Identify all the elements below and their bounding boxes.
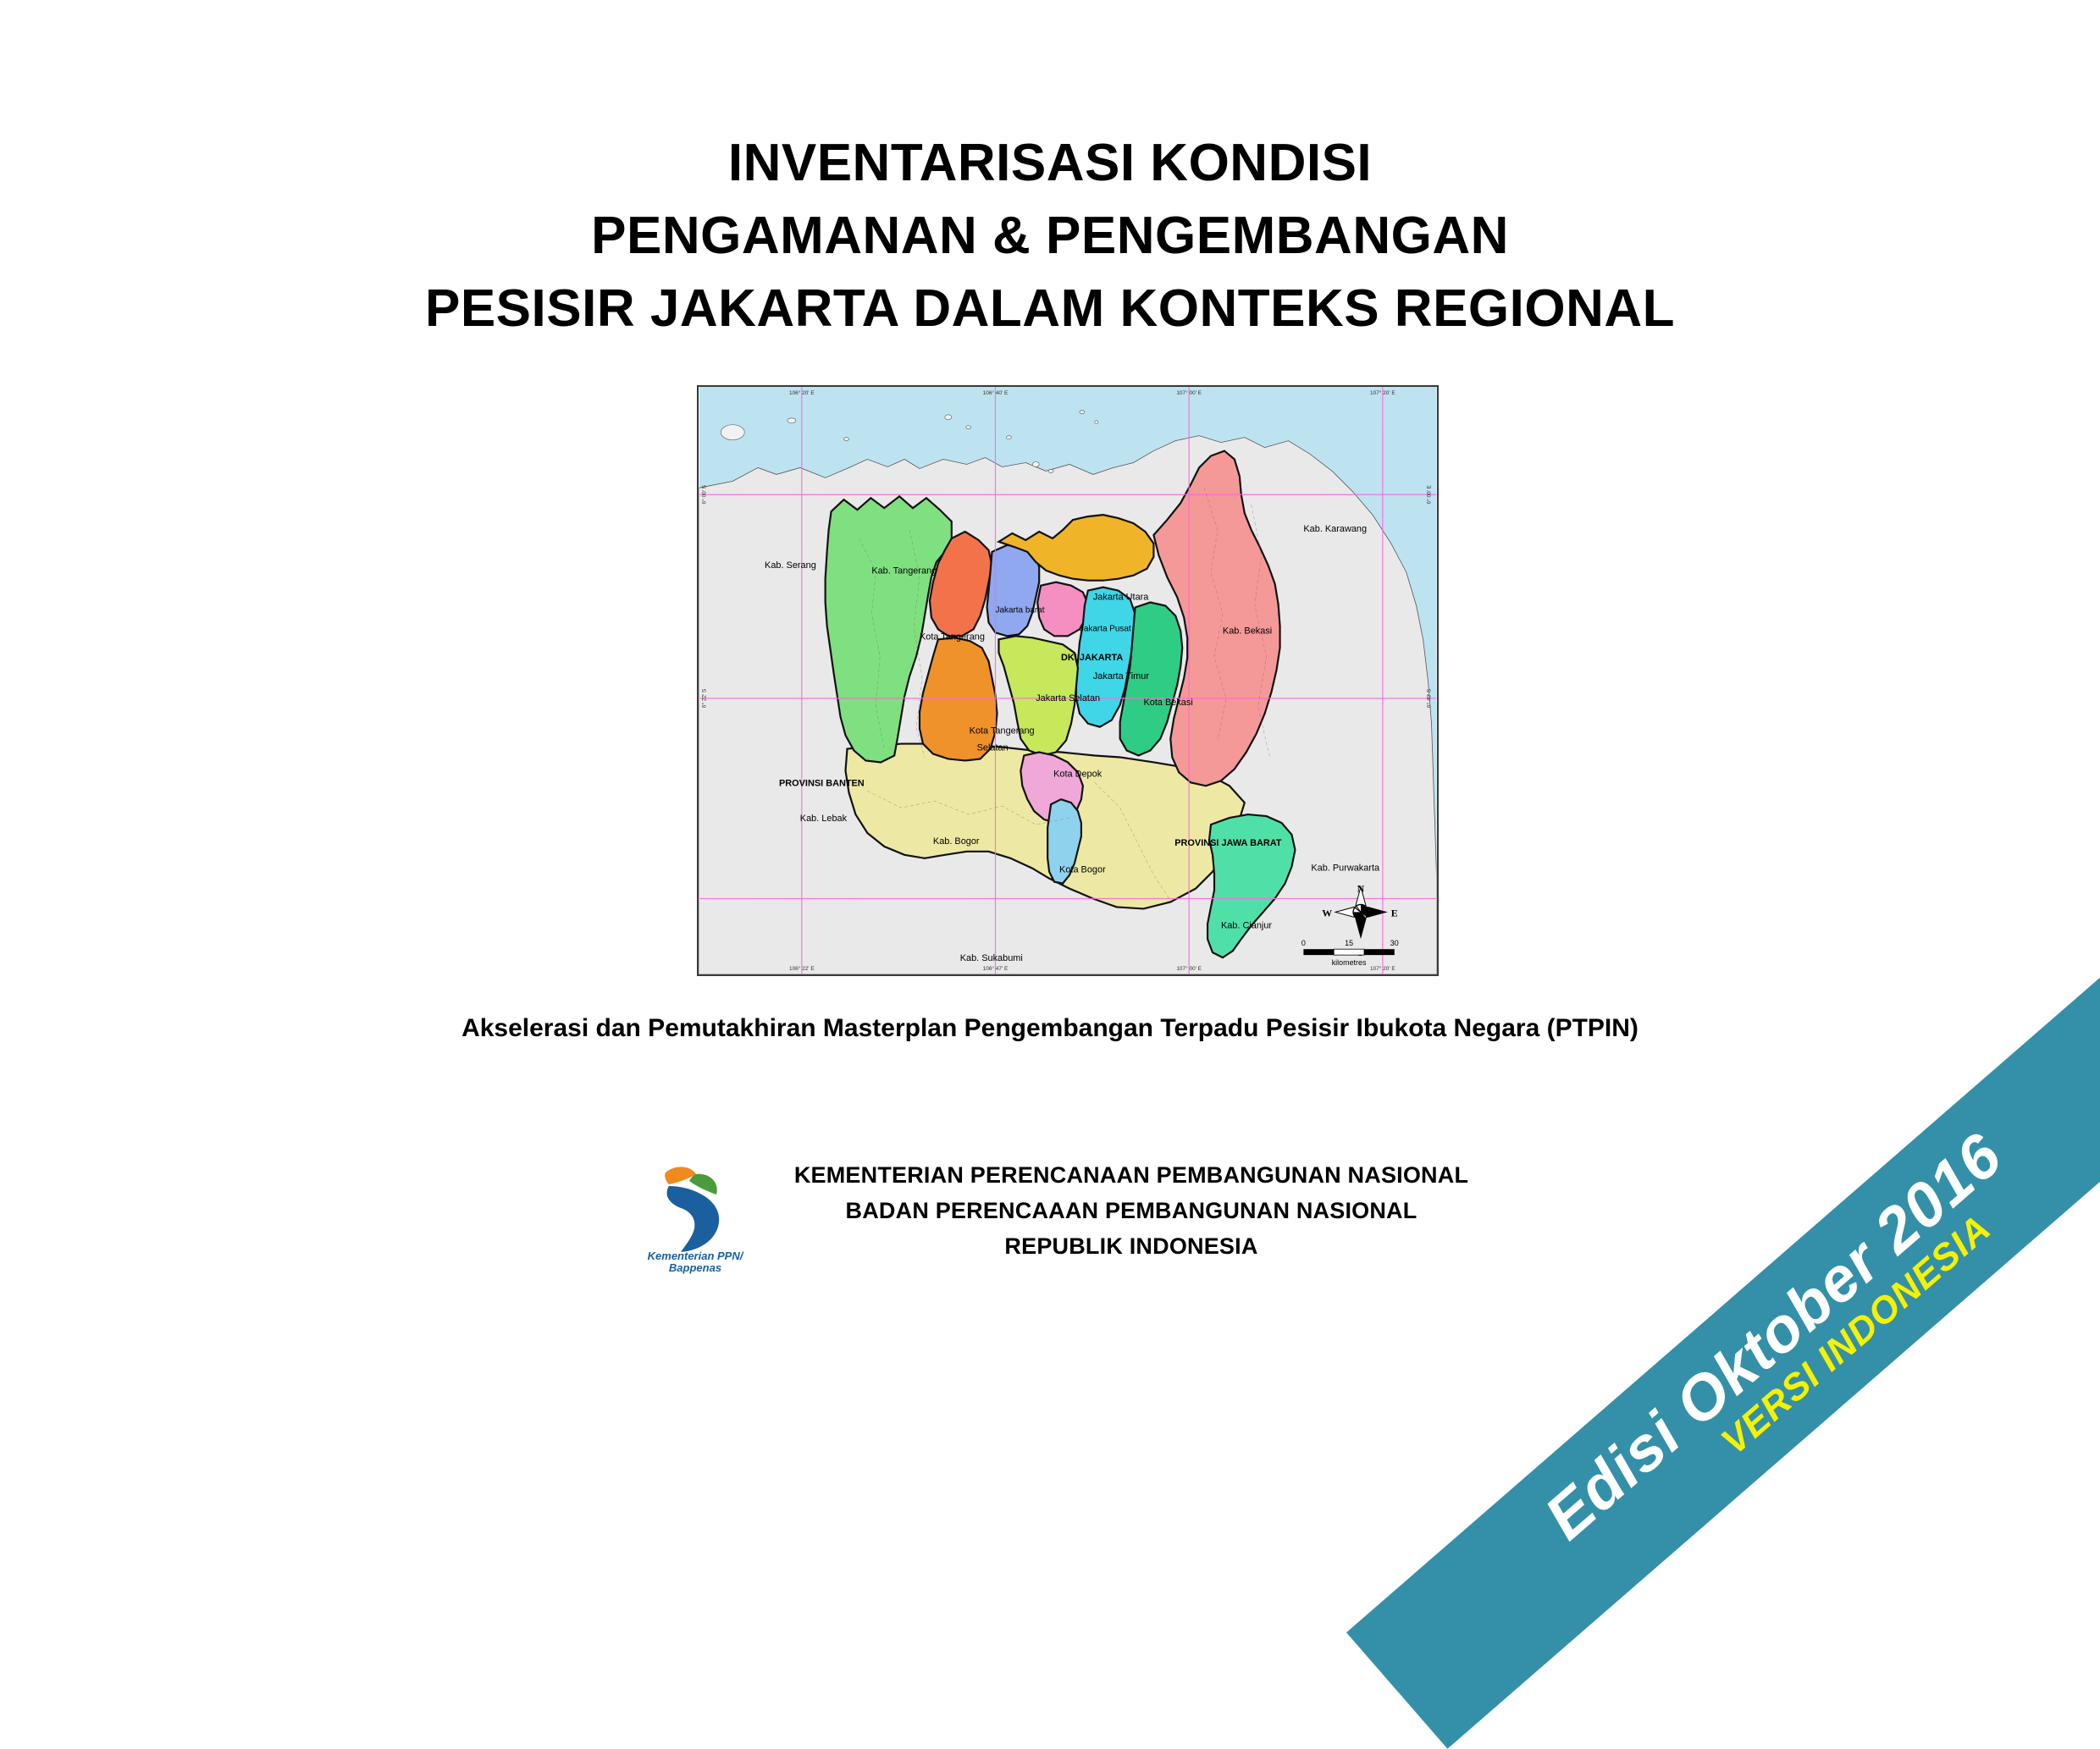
publisher-line-1: KEMENTERIAN PERENCANAAN PEMBANGUNAN NASI…: [794, 1157, 1468, 1193]
grat-bottom-label-2: 106° 47' E: [983, 965, 1009, 972]
grat-right-label-1: 6° 00' E: [1426, 484, 1433, 504]
map-label-dki-jakarta: DKI JAKARTA: [1061, 653, 1123, 663]
logo-text-line-1: Kementerian PPN/: [647, 1250, 743, 1262]
logo-text-line-2: Bappenas: [669, 1261, 721, 1274]
map-label-kab-cianjur: Kab. Cianjur: [1221, 920, 1272, 930]
scale-tick-15: 15: [1345, 939, 1353, 947]
title-line-3: PESISIR JAKARTA DALAM KONTEKS REGIONAL: [0, 273, 2100, 345]
compass-north-label: N: [1357, 883, 1365, 895]
map-label-jakarta-timur: Jakarta Timur: [1093, 671, 1150, 681]
map-label-kota-tangerang: Kota Tangerang: [920, 632, 985, 642]
logo-blue-shape: [666, 1186, 719, 1252]
grat-bottom-label-1: 106° 22' E: [789, 965, 815, 972]
map-label-kab-lebak: Kab. Lebak: [800, 814, 848, 824]
map-label-kab-bekasi: Kab. Bekasi: [1223, 626, 1272, 636]
map-svg: Kab. Serang Kab. Tangerang Kota Tangeran…: [699, 387, 1437, 974]
page-title: INVENTARISASI KONDISI PENGAMANAN & PENGE…: [0, 127, 2100, 345]
grat-left-label-1: 6° 00' S: [700, 484, 707, 504]
regional-map-figure: Kab. Serang Kab. Tangerang Kota Tangeran…: [697, 385, 1439, 976]
publisher-line-2: BADAN PERENCAAAN PEMBANGUNAN NASIONAL: [794, 1193, 1468, 1228]
map-label-jakarta-selatan: Jakarta Selatan: [1036, 693, 1100, 703]
compass-west-label: W: [1322, 907, 1332, 919]
map-label-kab-bogor: Kab. Bogor: [933, 836, 980, 847]
map-label-kota-tangerang-selatan-2: Selatan: [977, 743, 1009, 753]
grat-bottom-label-3: 107° 00' E: [1176, 965, 1202, 972]
grat-top-label-2: 106° 40' E: [983, 389, 1009, 396]
bappenas-logo-svg: Kementerian PPN/ Bappenas: [632, 1147, 759, 1274]
scale-tick-0: 0: [1301, 939, 1306, 947]
map-label-kab-sukabumi: Kab. Sukabumi: [960, 953, 1023, 963]
scale-tick-30: 30: [1390, 939, 1399, 947]
publisher-line-3: REPUBLIK INDONESIA: [794, 1228, 1468, 1264]
publisher-text: KEMENTERIAN PERENCANAAN PEMBANGUNAN NASI…: [794, 1157, 1468, 1264]
map-label-kota-bekasi: Kota Bekasi: [1143, 698, 1192, 708]
map-label-jakarta-barat: Jakarta barat: [995, 605, 1044, 615]
map-label-provinsi-jawa-barat: PROVINSI JAWA BARAT: [1174, 838, 1282, 848]
map-label-kab-karawang: Kab. Karawang: [1303, 524, 1367, 534]
grat-top-label-3: 107° 00' E: [1176, 389, 1202, 396]
bappenas-logo: Kementerian PPN/ Bappenas: [632, 1147, 759, 1274]
map-label-kab-purwakarta: Kab. Purwakarta: [1311, 863, 1380, 874]
compass-east-label: E: [1391, 907, 1398, 919]
map-label-kota-bogor: Kota Bogor: [1059, 865, 1106, 875]
grat-bottom-label-4: 107° 20' E: [1370, 965, 1395, 972]
grat-right-label-2: 6° 40' S: [1426, 688, 1433, 708]
edition-corner-banner: Edisi Oktober 2016 VERSI INDONESIA: [1346, 977, 2100, 1749]
map-label-provinsi-banten: PROVINSI BANTEN: [779, 778, 865, 788]
map-label-kota-depok: Kota Depok: [1053, 769, 1102, 779]
title-line-1: INVENTARISASI KONDISI: [0, 127, 2100, 200]
map-label-jakarta-utara: Jakarta Utara: [1093, 593, 1149, 603]
map-label-kab-serang: Kab. Serang: [765, 560, 816, 571]
map-label-kota-tangerang-selatan-1: Kota Tangerang: [970, 726, 1035, 737]
map-label-jakarta-pusat: Jakarta Pusat: [1080, 624, 1131, 633]
title-line-2: PENGAMANAN & PENGEMBANGAN: [0, 200, 2100, 273]
scale-unit-label: kilometres: [1332, 958, 1367, 967]
document-subtitle: Akselerasi dan Pemutakhiran Masterplan P…: [0, 1014, 2100, 1043]
grat-top-label-1: 106° 20' E: [789, 389, 815, 396]
grat-left-label-2: 6° 22' S: [700, 688, 707, 708]
grat-top-label-4: 107° 20' E: [1370, 389, 1395, 396]
map-label-kab-tangerang: Kab. Tangerang: [871, 566, 937, 577]
